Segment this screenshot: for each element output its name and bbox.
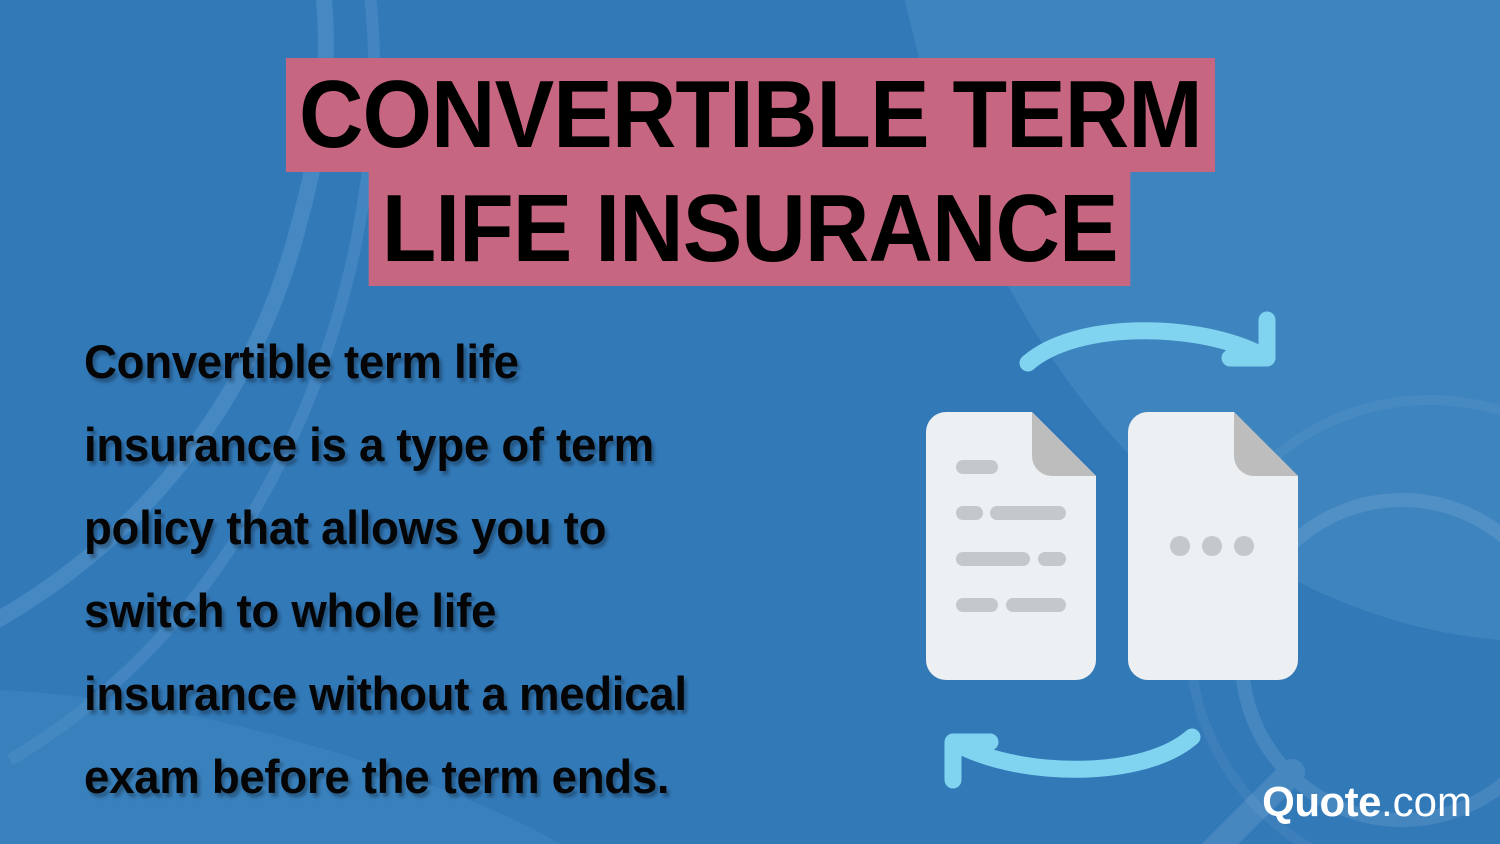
source-document-icon [926,412,1096,680]
body-line-5: insurance without a medical [84,652,850,735]
source-doc-line-1a [956,460,998,474]
body-line-3: policy that allows you to [84,486,850,569]
body-copy: Convertible term life insurance is a typ… [84,320,874,818]
source-doc-line-4a [956,598,998,612]
body-line-4: switch to whole life [84,569,850,652]
arrow-bottom-left-icon [953,737,1192,780]
source-doc-line-3b [1038,552,1066,566]
infographic-canvas: CONVERTIBLE TERM LIFE INSURANCE Converti… [0,0,1500,844]
target-document-icon [1128,412,1298,680]
document-conversion-illustration [900,300,1320,800]
body-line-6: exam before the term ends. [84,735,850,818]
target-document-fold [1234,412,1298,476]
target-doc-dot-2 [1202,536,1222,556]
target-doc-dot-1 [1170,536,1190,556]
source-doc-line-2b [990,506,1066,520]
title-line-2: LIFE INSURANCE [369,172,1131,286]
source-doc-line-2a [956,506,983,520]
source-doc-line-3a [956,552,1030,566]
body-line-2: insurance is a type of term [84,403,850,486]
title-block: CONVERTIBLE TERM LIFE INSURANCE [0,58,1500,286]
source-doc-line-4b [1006,598,1066,612]
quote-com-logo[interactable]: Quote.com [1262,778,1472,826]
title-line-1: CONVERTIBLE TERM [286,58,1215,172]
body-line-1: Convertible term life [84,320,850,403]
logo-tld-text: .com [1381,778,1472,825]
arrow-top-right-icon [1028,320,1267,363]
target-doc-dot-3 [1234,536,1254,556]
logo-brand-text: Quote [1262,778,1381,825]
source-document-fold [1032,412,1096,476]
